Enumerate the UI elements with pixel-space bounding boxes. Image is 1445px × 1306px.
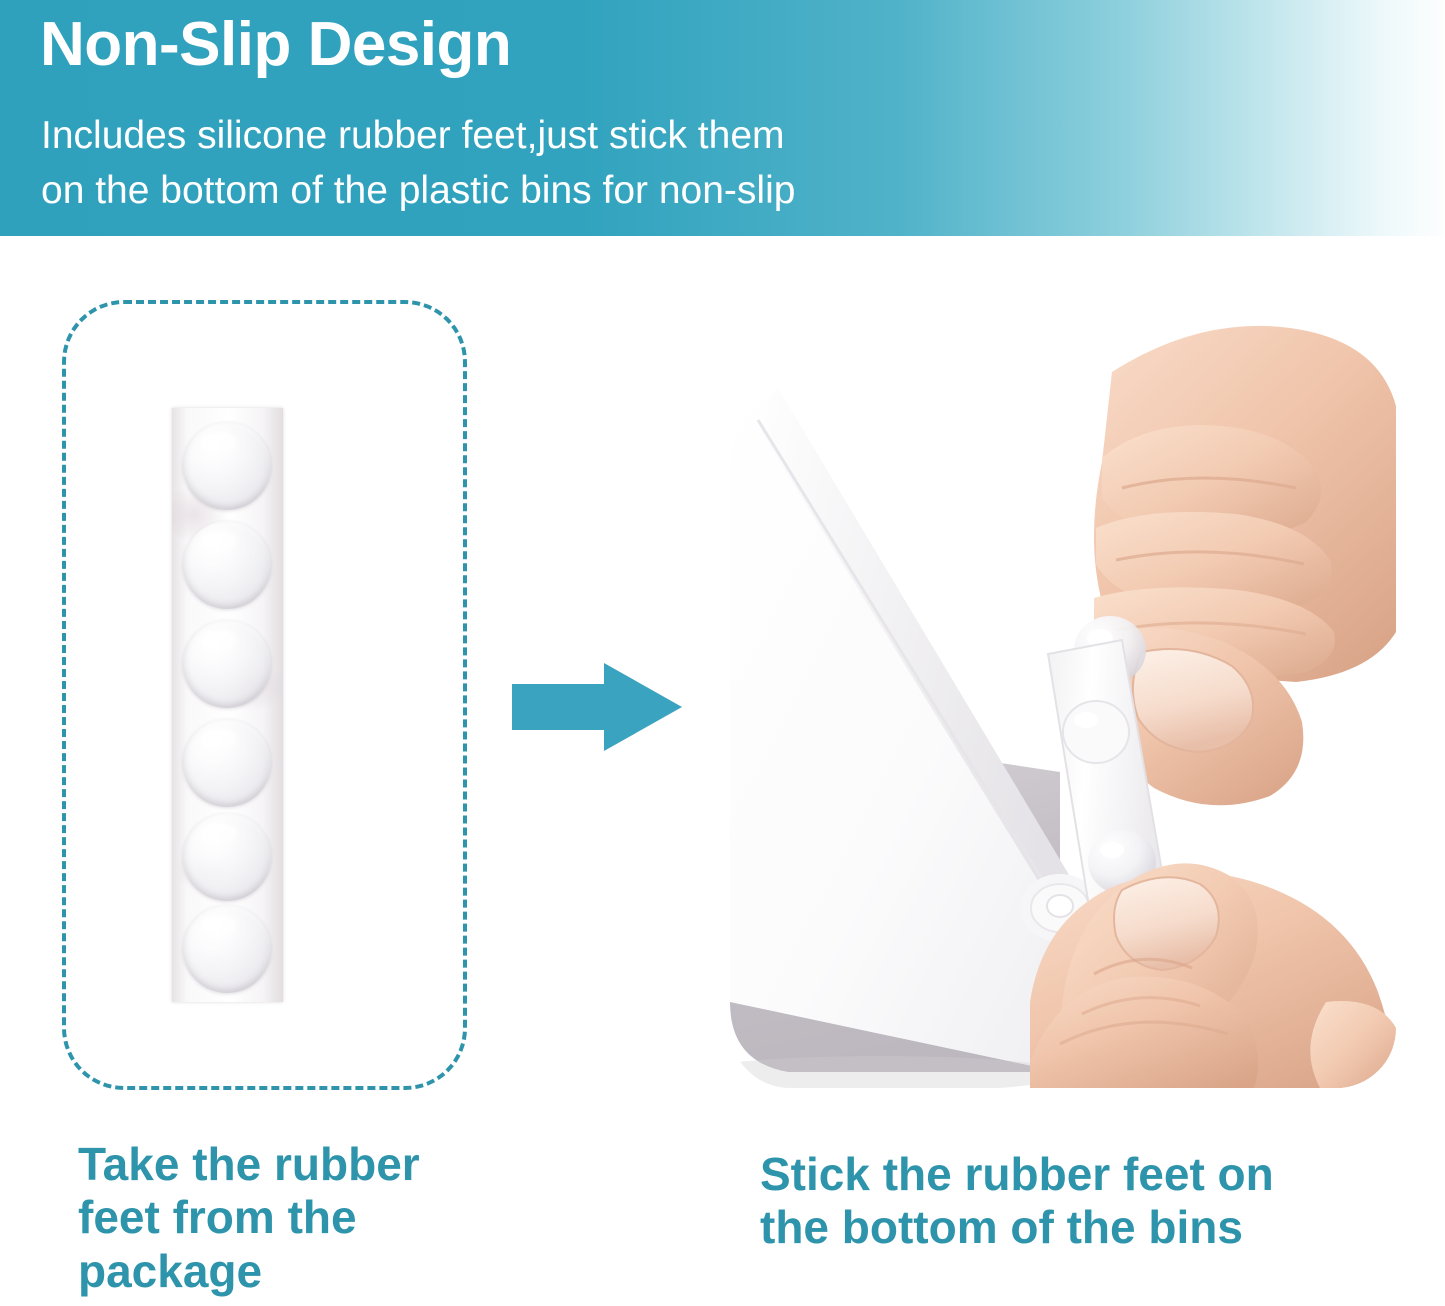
header-banner: Non-Slip Design Includes silicone rubber…: [0, 0, 1445, 236]
rubber-foot-dome: [183, 905, 271, 993]
rubber-feet-strip-image: [172, 408, 283, 1002]
caption-stick-the-rubber-feet: Stick the rubber feet on the bottom of t…: [760, 1148, 1400, 1255]
banner-subtitle-line-1: Includes silicone rubber feet,just stick…: [41, 108, 795, 163]
caption-line: Take the rubber: [78, 1138, 498, 1191]
arrow-right-icon: [512, 661, 682, 753]
banner-subtitle-line-2: on the bottom of the plastic bins for no…: [41, 163, 795, 218]
rubber-foot-dome: [183, 521, 271, 609]
rubber-foot-dome: [183, 620, 271, 708]
caption-line: package: [78, 1245, 498, 1298]
caption-take-the-rubber-feet: Take the rubber feet from the package: [78, 1138, 498, 1298]
caption-line: feet from the: [78, 1191, 498, 1244]
rubber-foot-dome: [183, 719, 271, 807]
banner-subtitle: Includes silicone rubber feet,just stick…: [41, 108, 795, 219]
page-title: Non-Slip Design: [40, 12, 511, 77]
caption-line: the bottom of the bins: [760, 1201, 1400, 1254]
caption-line: Stick the rubber feet on: [760, 1148, 1400, 1201]
rubber-foot-dome: [183, 422, 271, 510]
rubber-foot-dome: [183, 813, 271, 901]
stick-feet-on-bin-image: [730, 302, 1396, 1088]
